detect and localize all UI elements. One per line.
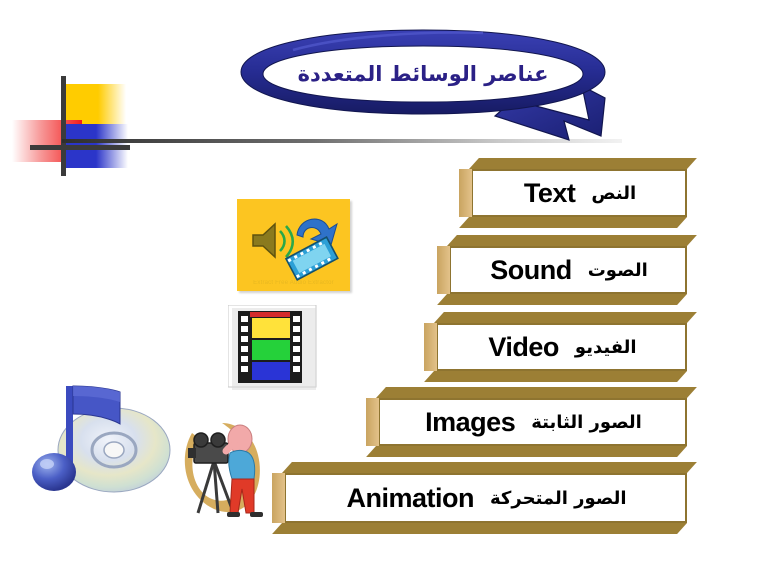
bar-label-english: Video (488, 332, 559, 363)
film-strip-icon (228, 305, 323, 393)
bar-label-english: Images (425, 407, 515, 438)
bar-label-arabic: الفيديو (575, 337, 637, 358)
bar-bottom-face (459, 217, 687, 228)
bar-top-face (376, 387, 697, 398)
bar-left-face (437, 246, 451, 294)
logo-vertical-bar (61, 76, 66, 176)
bar-label-text: الصور الثابتة Images (380, 398, 687, 446)
bar-left-face (459, 169, 473, 217)
bar-top-face (282, 462, 697, 473)
bar-label-text: الصوت Sound (451, 246, 687, 294)
decorative-logo-icon (12, 76, 132, 176)
music-note-cd-icon (24, 378, 176, 503)
bar-left-face (424, 323, 438, 371)
bar-label-english: Sound (490, 255, 571, 286)
bar-video[interactable]: الفيديو Video (424, 312, 697, 382)
bar-bottom-face (437, 294, 687, 305)
bar-label-arabic: الصور المتحركة (490, 488, 626, 509)
bar-animation[interactable]: الصور المتحركة Animation (272, 462, 697, 534)
callout-title-text: عناصر الوسائط المتعددة (233, 62, 613, 86)
title-callout: عناصر الوسائط المتعددة (233, 24, 613, 148)
callout-shape-icon (233, 24, 613, 148)
slide-canvas: عناصر الوسائط المتعددة النص Text الصوت S… (0, 0, 759, 571)
audio-extractor-caption: Extract Free Audio Extractor (237, 280, 350, 286)
bar-top-face (447, 235, 697, 246)
bar-left-face (366, 398, 380, 446)
bar-top-face (434, 312, 697, 323)
music-cd-glyph-icon (24, 378, 176, 503)
audio-extractor-icon: Extract Free Audio Extractor (237, 199, 350, 291)
bar-label-english: Animation (347, 483, 475, 514)
bar-label-arabic: الصور الثابتة (531, 412, 642, 433)
bar-label-text: النص Text (473, 169, 687, 217)
bar-bottom-face (272, 523, 687, 534)
logo-horizontal-bar (30, 145, 130, 150)
cameraman-glyph-icon (174, 409, 275, 527)
bar-bottom-face (366, 446, 687, 457)
bar-top-face (469, 158, 697, 169)
bar-sound[interactable]: الصوت Sound (437, 235, 697, 305)
bar-images[interactable]: الصور الثابتة Images (366, 387, 697, 457)
cameraman-icon (174, 409, 275, 527)
bar-label-english: Text (524, 178, 576, 209)
bar-label-text: الصور المتحركة Animation (286, 473, 687, 523)
bar-label-arabic: الصوت (588, 260, 648, 281)
film-strip-glyph-icon (228, 305, 323, 393)
bar-label-text: الفيديو Video (438, 323, 687, 371)
bar-bottom-face (424, 371, 687, 382)
bar-text[interactable]: النص Text (459, 158, 697, 228)
audio-extractor-glyph-icon (237, 199, 350, 291)
bar-label-arabic: النص (591, 183, 636, 204)
